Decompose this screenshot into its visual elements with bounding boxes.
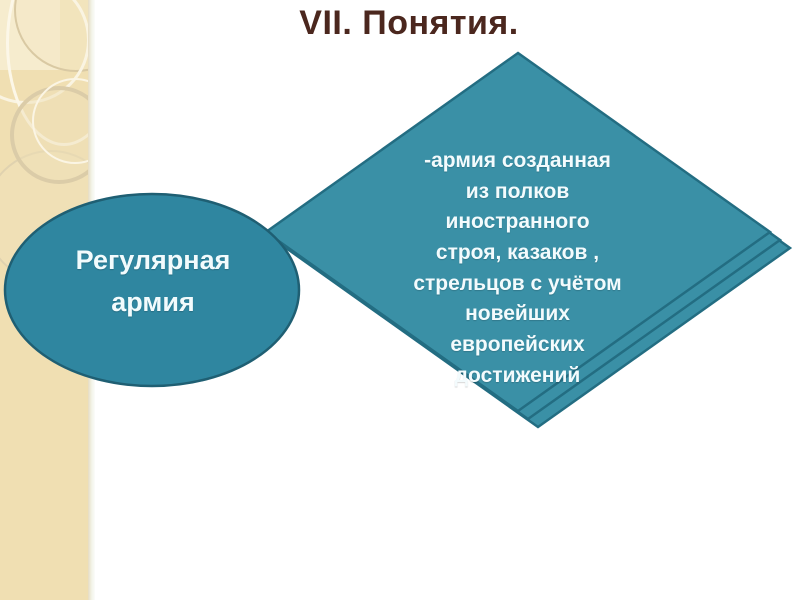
diamond-text-line: европейских xyxy=(385,330,650,361)
diamond-text-line: достижений xyxy=(385,361,650,392)
ellipse-label: Регулярная армия xyxy=(8,240,298,324)
diamond-text-line: из полков xyxy=(385,177,650,208)
diamond-text-line: строя, казаков , xyxy=(385,238,650,269)
ellipse-label-line-1: Регулярная xyxy=(8,240,298,282)
slide-canvas: VII. Понятия. Регулярная армия -армия со… xyxy=(0,0,800,600)
diamond-text-line: -армия созданная xyxy=(385,146,650,177)
diamond-text-line: стрельцов с учётом xyxy=(385,269,650,300)
diamond-description: -армия созданная из полков иностранного … xyxy=(385,146,650,391)
diamond-text-line: иностранного xyxy=(385,207,650,238)
diamond-text-line: новейших xyxy=(385,299,650,330)
ellipse-label-line-2: армия xyxy=(8,282,298,324)
